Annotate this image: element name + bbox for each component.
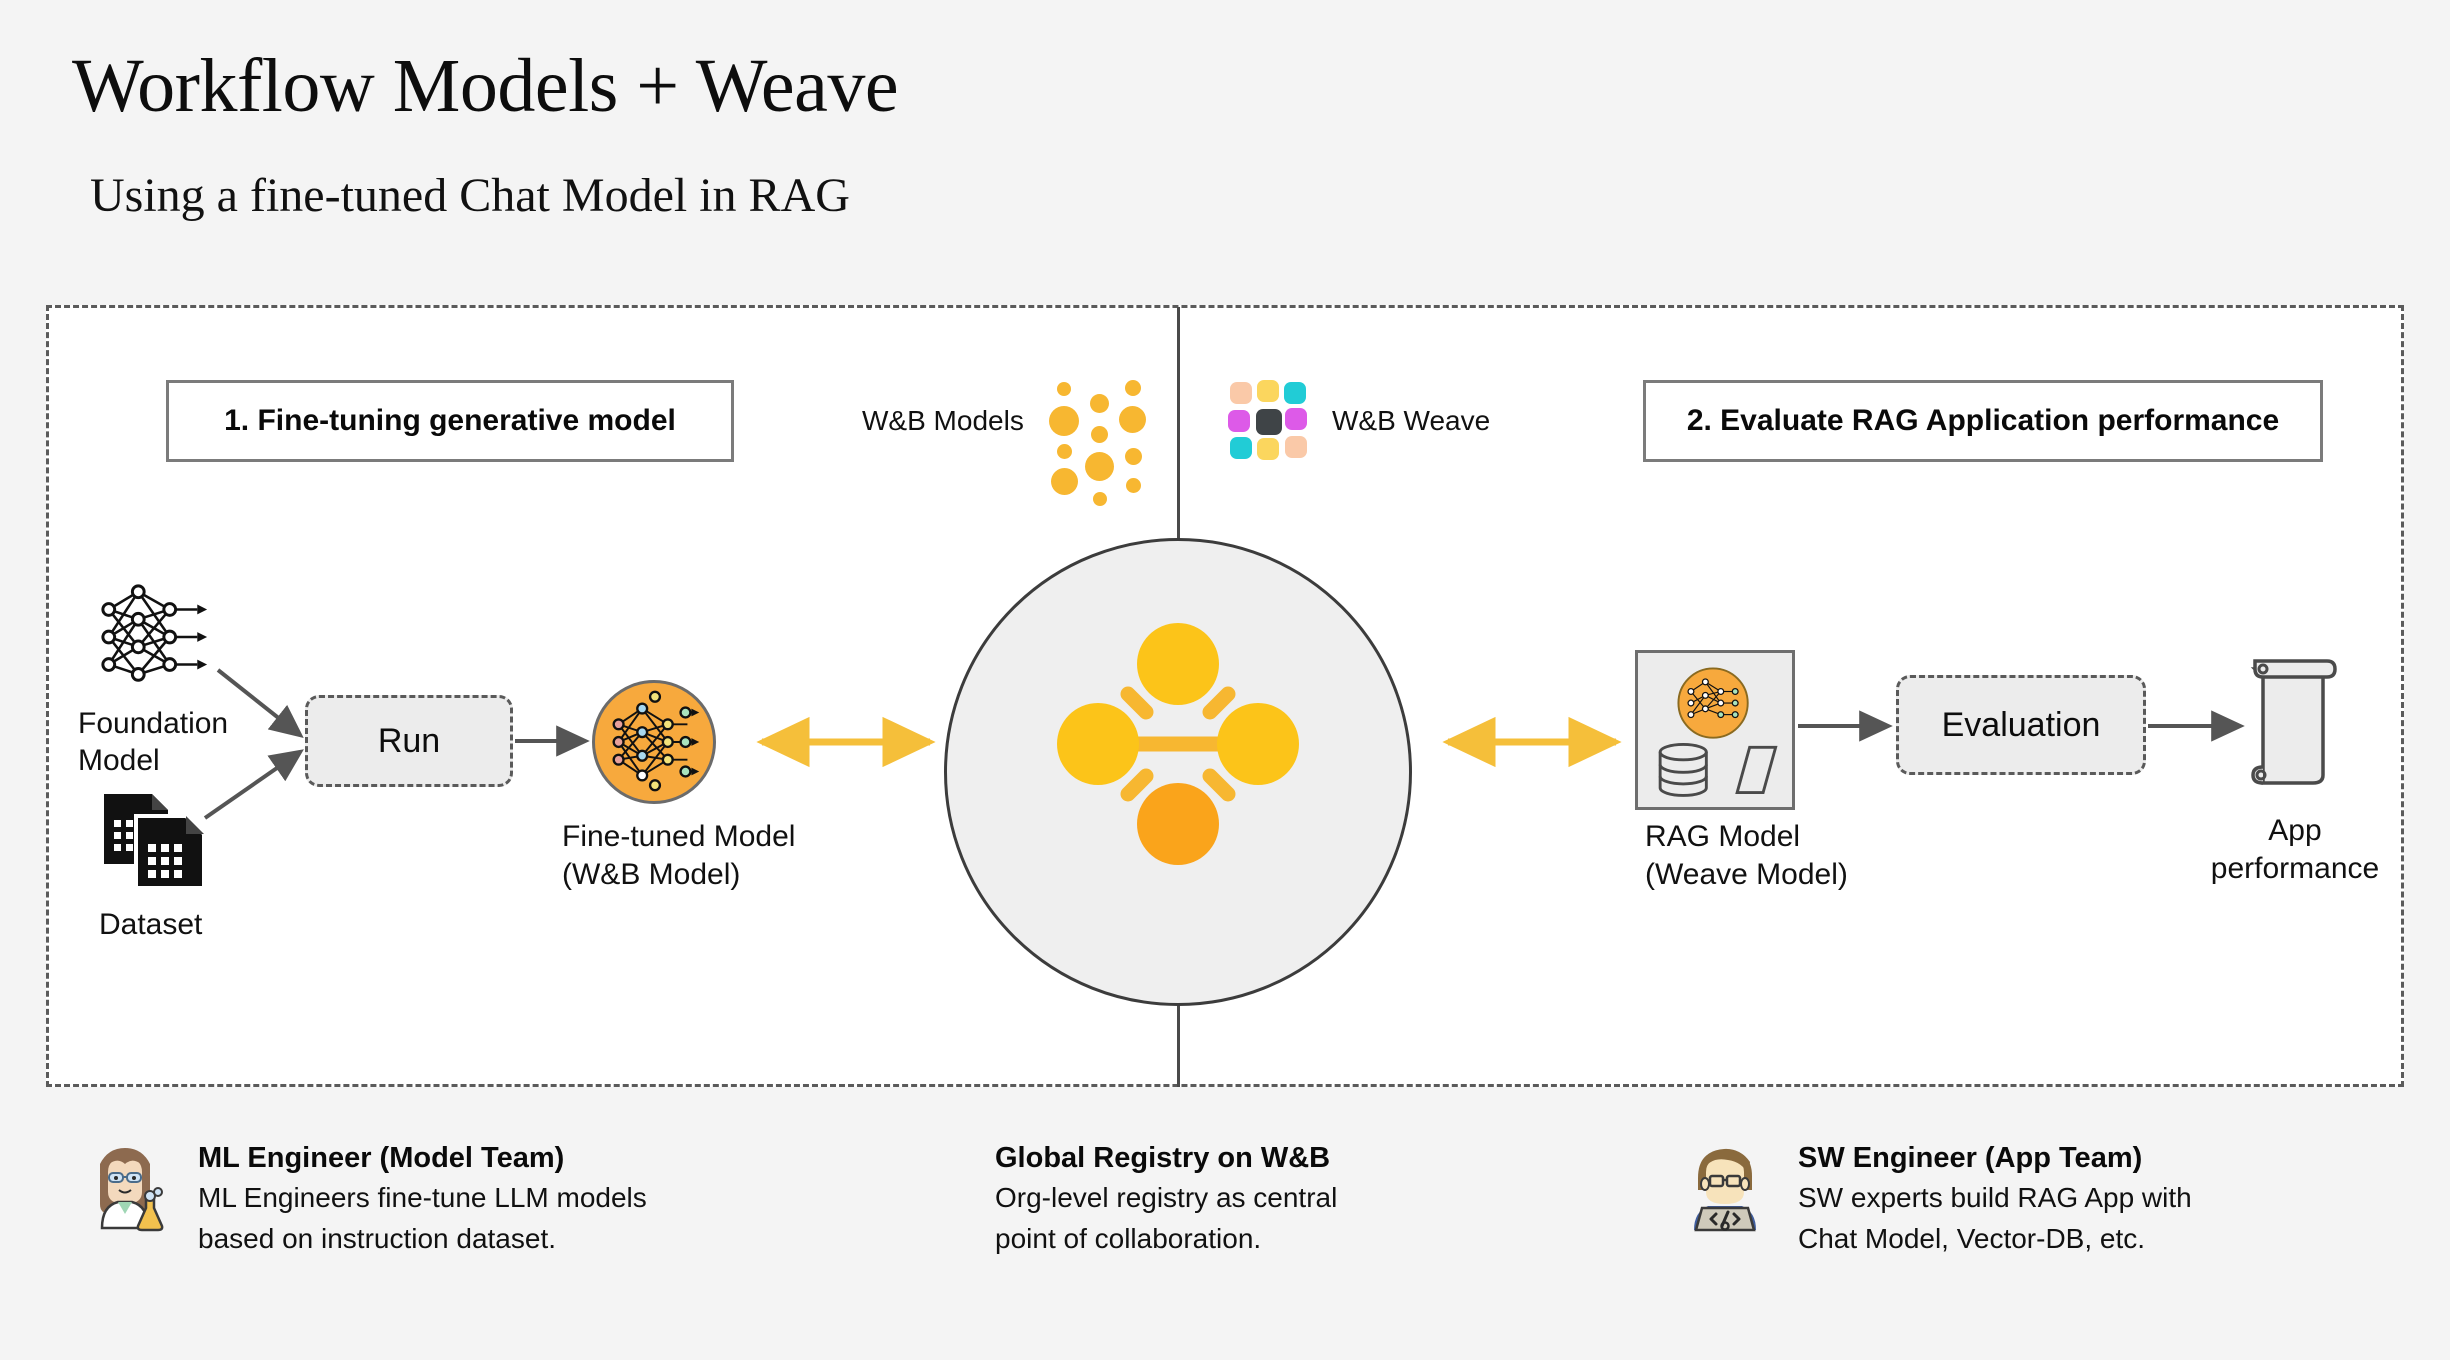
scroll-document-icon (2245, 655, 2341, 787)
app-performance-label: App performance (2155, 812, 2435, 887)
run-node[interactable]: Run (305, 695, 513, 787)
legend-desc-line1: ML Engineers fine-tune LLM models (198, 1180, 680, 1216)
app-perf-line2: performance (2155, 850, 2435, 888)
foundation-model-label: Foundation Model (78, 706, 258, 779)
dataset-files-icon (100, 790, 210, 892)
fine-tuned-model-circle-icon (592, 680, 716, 804)
legend-desc-line1: Org-level registry as central (995, 1180, 1595, 1216)
wandb-models-label: W&B Models (862, 405, 1024, 437)
wandb-weave-label: W&B Weave (1332, 405, 1490, 437)
page-subtitle: Using a fine-tuned Chat Model in RAG (90, 172, 850, 220)
evaluation-node[interactable]: Evaluation (1896, 675, 2146, 775)
legend-desc-line2: Chat Model, Vector-DB, etc. (1798, 1221, 2280, 1257)
section-header-finetuning: 1. Fine-tuning generative model (166, 380, 734, 462)
wandb-weave-grid-icon (1228, 380, 1312, 464)
woman-scientist-emoji (80, 1142, 170, 1232)
legend-desc-line2: point of collaboration. (995, 1221, 1595, 1257)
man-technologist-emoji (1680, 1142, 1770, 1232)
legend-title: ML Engineer (Model Team) (198, 1140, 680, 1176)
rag-label-line1: RAG Model (1645, 818, 1945, 856)
fine-tuned-model-label: Fine-tuned Model (W&B Model) (562, 818, 862, 893)
legend-title: SW Engineer (App Team) (1798, 1140, 2280, 1176)
legend-desc-line1: SW experts build RAG App with (1798, 1180, 2280, 1216)
legend-desc-line2: based on instruction dataset. (198, 1221, 680, 1257)
dataset-label: Dataset (99, 908, 202, 942)
wandb-models-dots-icon (1043, 378, 1135, 468)
page-title: Workflow Models + Weave (72, 48, 898, 124)
ft-model-label-line1: Fine-tuned Model (562, 818, 862, 856)
rag-model-label: RAG Model (Weave Model) (1645, 818, 1945, 893)
foundation-label-line2: Model (78, 743, 258, 780)
foundation-label-line1: Foundation (78, 706, 258, 743)
slide-canvas: Workflow Models + Weave Using a fine-tun… (0, 0, 2450, 1360)
legend-item-global-registry: Global Registry on W&B Org-level registr… (995, 1140, 1595, 1257)
legend-item-sw-engineer: SW Engineer (App Team) SW experts build … (1680, 1140, 2280, 1257)
app-perf-line1: App (2155, 812, 2435, 850)
global-registry-network-icon (1042, 608, 1314, 880)
legend-item-ml-engineer: ML Engineer (Model Team) ML Engineers fi… (80, 1140, 680, 1257)
section-header-evaluation: 2. Evaluate RAG Application performance (1643, 380, 2323, 462)
rag-model-components-icon (1635, 650, 1795, 810)
ft-model-label-line2: (W&B Model) (562, 856, 862, 894)
legend-title: Global Registry on W&B (995, 1140, 1595, 1176)
neural-network-icon (95, 578, 213, 696)
rag-label-line2: (Weave Model) (1645, 856, 1945, 894)
